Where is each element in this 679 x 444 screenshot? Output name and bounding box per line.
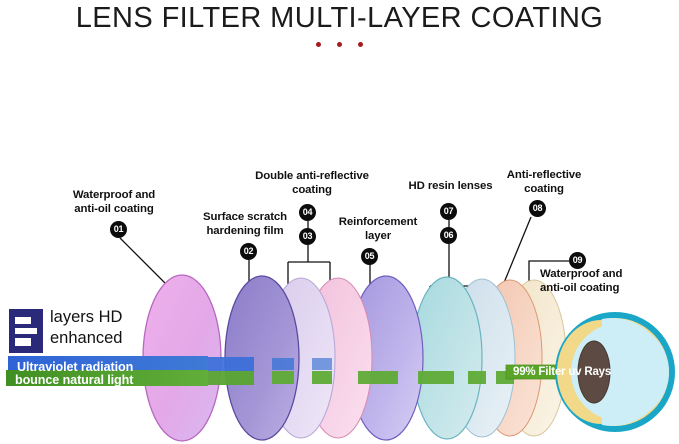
callout-badge-07[interactable]: 07 (440, 203, 457, 220)
nine-layers-badge: layers HD enhanced (8, 308, 148, 356)
callout-badge-06[interactable]: 06 (440, 227, 457, 244)
lens-coating-infographic: LENS FILTER MULTI-LAYER COATING (0, 0, 679, 444)
callout-badge-02[interactable]: 02 (240, 243, 257, 260)
callout-label-08: Anti-reflective coating (495, 169, 593, 196)
callout-label-04: Double anti-reflective coating (238, 170, 386, 197)
uv-banner-line-2: bounce natural light (15, 373, 133, 387)
callout-badge-08[interactable]: 08 (529, 200, 546, 217)
callout-label-02: Surface scratch hardening film (189, 211, 301, 238)
callout-badge-05[interactable]: 05 (361, 248, 378, 265)
filter-uv-rays-text: 99% Filter uv Rays (513, 366, 611, 378)
callout-label-01: Waterproof and anti-oil coating (55, 189, 173, 216)
callout-label-07: HD resin lenses (404, 180, 497, 194)
callout-badge-01[interactable]: 01 (110, 221, 127, 238)
callout-badge-04[interactable]: 04 (299, 204, 316, 221)
nine-layers-text: layers HD enhanced (50, 307, 123, 349)
callout-badge-03[interactable]: 03 (299, 228, 316, 245)
callout-badge-09[interactable]: 09 (569, 252, 586, 269)
nine-numeral-glyph (8, 308, 44, 354)
callout-label-05: Reinforcement layer (325, 216, 431, 243)
uv-banner-line-1: Ultraviolet radiation (17, 360, 133, 374)
callout-label-09: Waterproof and anti-oil coating (540, 268, 656, 295)
